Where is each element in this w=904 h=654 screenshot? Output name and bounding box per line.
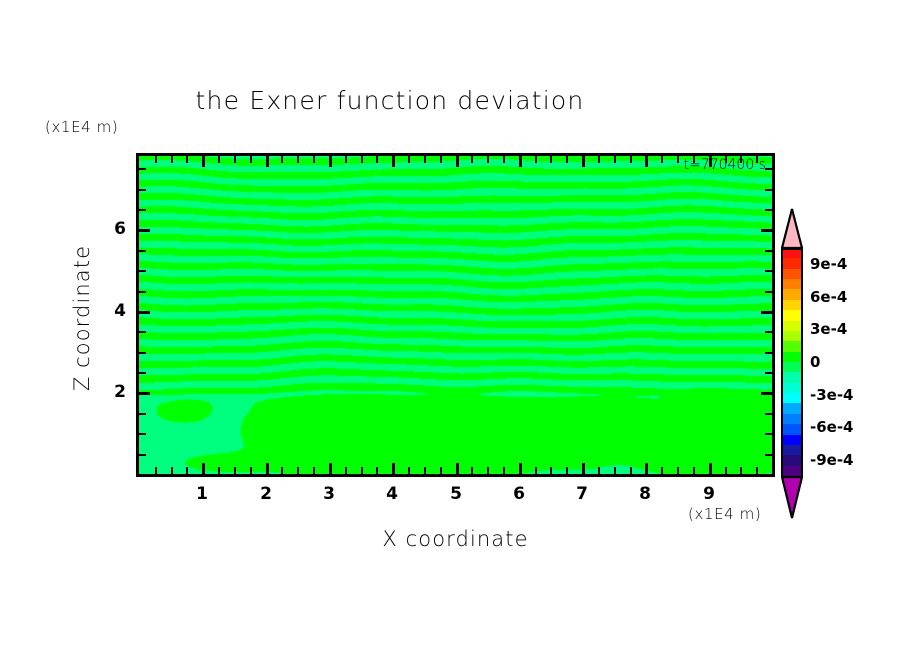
x-tick-label: 2	[260, 484, 272, 504]
x-tick	[376, 156, 378, 163]
x-tick	[440, 156, 442, 163]
y-tick	[139, 372, 146, 374]
x-tick	[456, 156, 459, 167]
x-tick	[566, 467, 568, 474]
x-tick	[329, 463, 332, 474]
y-tick	[765, 250, 772, 252]
x-tick	[550, 156, 552, 163]
x-tick	[503, 467, 505, 474]
x-tick	[186, 156, 188, 163]
y-tick	[139, 454, 146, 456]
colorbar-tick-label: -6e-4	[810, 418, 854, 436]
contour-field	[139, 156, 772, 474]
y-tick	[765, 433, 772, 435]
y-tick	[765, 209, 772, 211]
y-tick	[139, 291, 146, 293]
x-tick	[361, 467, 363, 474]
y-axis-title: Z coordinate	[70, 218, 94, 418]
x-tick	[329, 156, 332, 167]
x-tick	[677, 156, 679, 163]
x-tick-label: 8	[639, 484, 651, 504]
x-tick	[598, 156, 600, 163]
y-tick	[765, 291, 772, 293]
y-tick	[139, 352, 146, 354]
x-tick	[471, 156, 473, 163]
y-tick	[139, 270, 146, 272]
x-tick	[645, 156, 648, 167]
colorbar-tick-label: 6e-4	[810, 288, 847, 306]
x-tick	[661, 156, 663, 163]
x-tick	[250, 467, 252, 474]
x-tick	[630, 156, 632, 163]
y-tick-label: 6	[96, 219, 126, 239]
contour-plot-area: t=770400 s	[136, 153, 775, 477]
x-tick	[582, 156, 585, 167]
colorbar-tick-label: -3e-4	[810, 386, 854, 404]
y-tick	[761, 229, 772, 232]
y-tick	[761, 311, 772, 314]
y-tick	[139, 189, 146, 191]
x-tick	[218, 156, 220, 163]
y-tick	[765, 189, 772, 191]
y-axis-unit-label: (x1E4 m)	[45, 118, 118, 136]
x-tick	[376, 467, 378, 474]
x-tick	[519, 463, 522, 474]
y-tick	[139, 433, 146, 435]
colorbar-tick-label: 3e-4	[810, 320, 847, 338]
x-tick	[345, 467, 347, 474]
x-tick	[487, 467, 489, 474]
x-axis-unit-label: (x1E4 m)	[688, 505, 761, 523]
x-tick	[266, 156, 269, 167]
x-tick	[345, 156, 347, 163]
y-tick	[139, 209, 146, 211]
x-tick	[519, 156, 522, 167]
x-tick	[408, 467, 410, 474]
x-tick	[566, 156, 568, 163]
colorbar-over-arrow	[781, 208, 803, 249]
x-tick	[297, 467, 299, 474]
x-tick	[155, 467, 157, 474]
y-tick	[765, 413, 772, 415]
y-tick	[765, 270, 772, 272]
x-tick	[250, 156, 252, 163]
x-tick	[725, 467, 727, 474]
y-tick	[765, 352, 772, 354]
page-title: the Exner function deviation	[0, 86, 780, 115]
colorbar-tick-label: 0	[810, 353, 820, 371]
x-tick-label: 5	[450, 484, 462, 504]
x-tick	[313, 467, 315, 474]
x-tick	[424, 467, 426, 474]
y-tick	[139, 392, 150, 395]
colorbar-tick-label: -9e-4	[810, 451, 854, 469]
y-tick	[139, 229, 150, 232]
time-annotation: t=770400 s	[684, 157, 766, 173]
x-tick	[202, 463, 205, 474]
y-tick	[765, 168, 772, 170]
x-tick	[218, 467, 220, 474]
x-tick	[392, 463, 395, 474]
x-tick	[645, 463, 648, 474]
x-tick	[281, 467, 283, 474]
x-tick	[535, 156, 537, 163]
x-tick	[313, 156, 315, 163]
x-tick-label: 9	[703, 484, 715, 504]
x-tick	[171, 156, 173, 163]
x-tick-label: 3	[323, 484, 335, 504]
x-tick	[535, 467, 537, 474]
x-tick	[614, 467, 616, 474]
colorbar	[781, 248, 803, 476]
y-tick-label: 2	[96, 382, 126, 402]
x-tick	[550, 467, 552, 474]
x-tick	[614, 156, 616, 163]
x-tick	[155, 156, 157, 163]
y-tick	[139, 311, 150, 314]
x-tick	[234, 467, 236, 474]
x-tick	[487, 156, 489, 163]
y-tick	[139, 250, 146, 252]
x-tick	[661, 467, 663, 474]
x-tick	[234, 156, 236, 163]
x-tick	[598, 467, 600, 474]
x-tick	[392, 156, 395, 167]
x-tick-label: 4	[386, 484, 398, 504]
x-tick-label: 1	[196, 484, 208, 504]
x-tick	[281, 156, 283, 163]
y-tick	[139, 413, 146, 415]
y-tick	[761, 392, 772, 395]
x-tick	[297, 156, 299, 163]
x-tick	[171, 467, 173, 474]
x-tick	[709, 463, 712, 474]
x-tick	[440, 467, 442, 474]
colorbar-under-arrow	[781, 475, 803, 519]
x-tick	[424, 156, 426, 163]
x-tick	[756, 467, 758, 474]
y-tick-label: 4	[96, 301, 126, 321]
x-tick	[266, 463, 269, 474]
colorbar-tick-label: 9e-4	[810, 255, 847, 273]
x-tick	[740, 467, 742, 474]
x-tick	[202, 156, 205, 167]
x-tick	[186, 467, 188, 474]
x-tick-label: 7	[576, 484, 588, 504]
y-tick	[765, 372, 772, 374]
y-tick	[139, 331, 146, 333]
x-tick	[677, 467, 679, 474]
x-tick	[408, 156, 410, 163]
y-tick	[139, 168, 146, 170]
x-tick	[503, 156, 505, 163]
x-tick	[456, 463, 459, 474]
x-tick	[693, 467, 695, 474]
y-tick	[765, 454, 772, 456]
x-tick	[471, 467, 473, 474]
x-tick	[630, 467, 632, 474]
x-tick-label: 6	[513, 484, 525, 504]
x-tick	[361, 156, 363, 163]
y-tick	[765, 331, 772, 333]
x-tick	[582, 463, 585, 474]
x-axis-title: X coordinate	[136, 527, 775, 551]
